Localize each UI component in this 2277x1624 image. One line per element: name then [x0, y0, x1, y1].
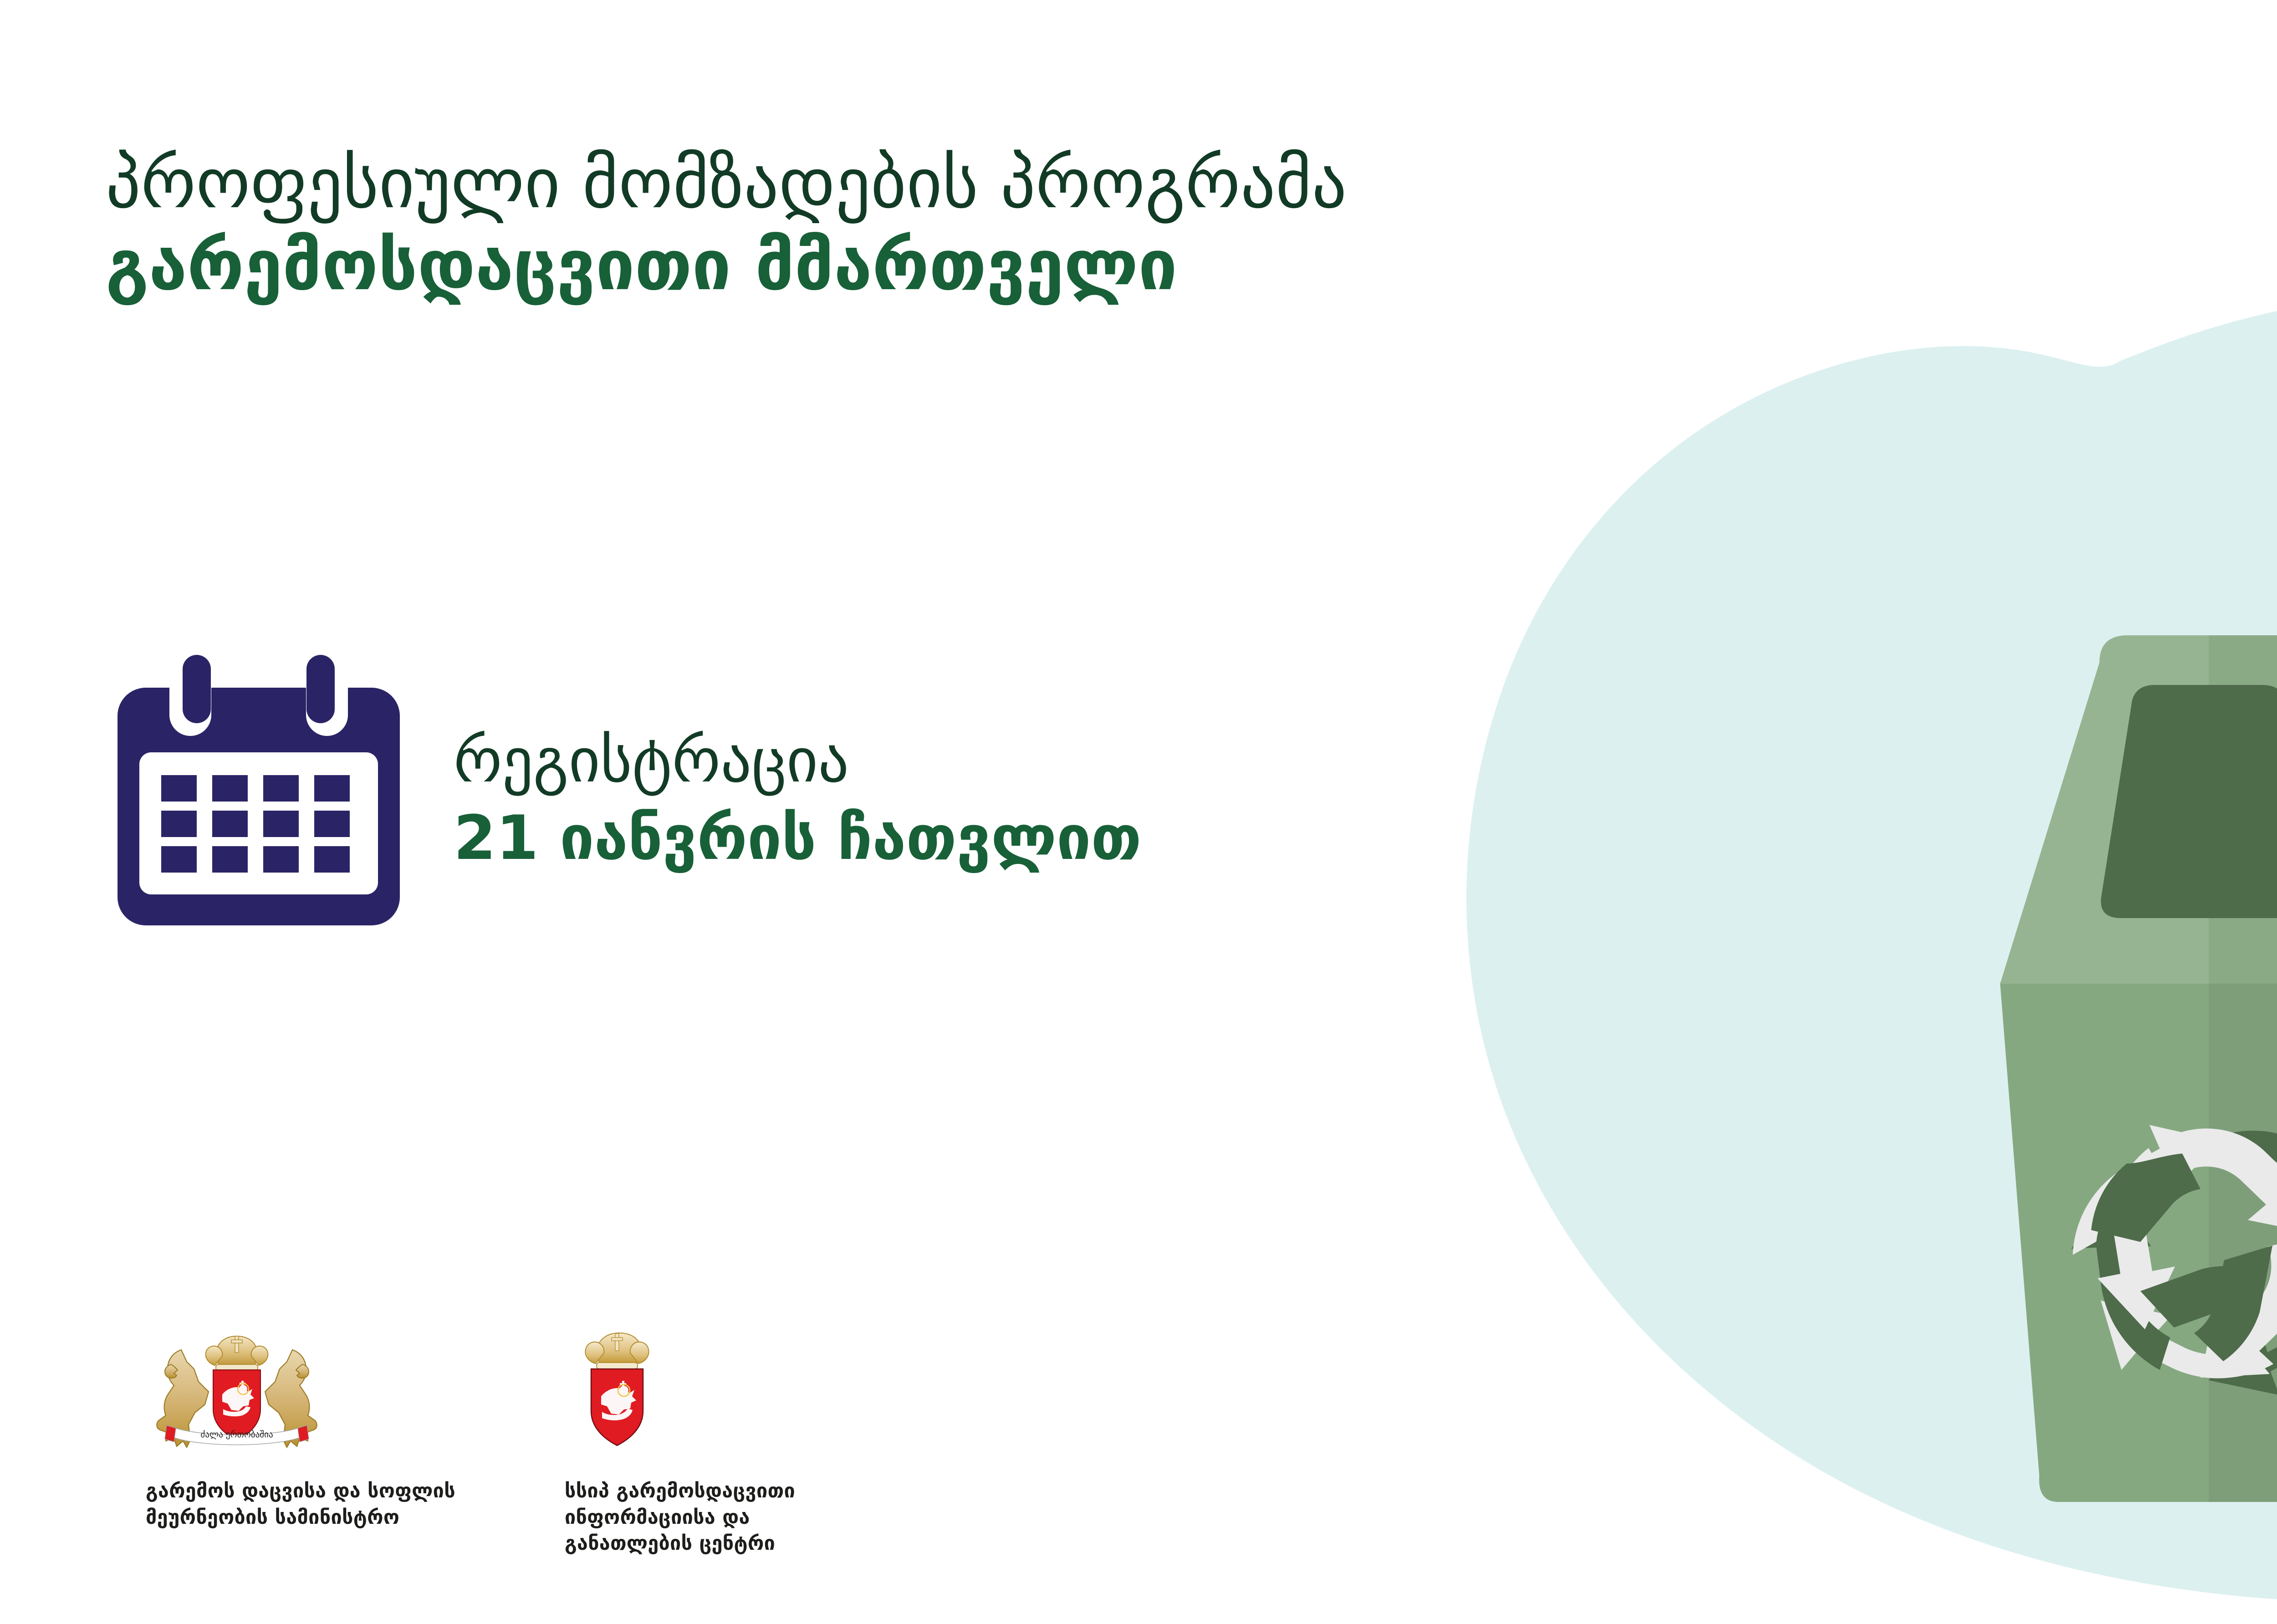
registration-block: რეგისტრაცია 21 იანვრის ჩათვლით [117, 647, 1142, 938]
centre-caption: სსიპ გარემოსდაცვითი ინფორმაციისა და განა… [565, 1478, 795, 1557]
registration-label: რეგისტრაცია [454, 725, 1142, 797]
centre-caption-line-1: სსიპ გარემოსდაცვითი [565, 1478, 795, 1505]
ministry-caption: გარემოს დაცვისა და სოფლის მეურნეობის სამ… [146, 1478, 455, 1531]
georgia-greater-coat-of-arms-icon: ძალა ერთობაშია [146, 1330, 455, 1466]
headline-line-1: პროფესიული მომზადების პროგრამა [106, 145, 2018, 222]
crown [206, 1336, 268, 1371]
bin-lid-right-cap [2209, 635, 2277, 663]
bin-body-right-foot [2209, 1476, 2277, 1502]
bin-body-left-foot [2039, 1476, 2209, 1502]
centre-caption-line-2: ინფორმაციისა და [565, 1505, 795, 1531]
footer-logos: ძალა ერთობაშია გარემოს დაცვისა და სოფლის… [146, 1330, 795, 1557]
ministry-caption-line-1: გარემოს დაცვისა და სოფლის [146, 1478, 455, 1505]
georgia-state-emblem-icon [565, 1330, 795, 1466]
coat-of-arms-motto: ძალა ერთობაშია [200, 1430, 273, 1440]
ministry-logo-block: ძალა ერთობაშია გარემოს დაცვისა და სოფლის… [146, 1330, 455, 1531]
registration-deadline: 21 იანვრის ჩათვლით [454, 802, 1142, 874]
centre-caption-line-3: განათლების ცენტრი [565, 1531, 795, 1557]
crown [585, 1333, 648, 1369]
poster-canvas: პროფესიული მომზადების პროგრამა გარემოსდა… [0, 0, 2277, 1624]
headline-line-2: გარემოსდაცვითი მმართველი [106, 227, 2018, 304]
registration-text: რეგისტრაცია 21 იანვრის ჩათვლით [454, 711, 1142, 874]
calendar-icon [117, 647, 400, 938]
ministry-caption-line-2: მეურნეობის სამინისტრო [146, 1505, 455, 1531]
bin-body-right [2209, 984, 2277, 1476]
centre-logo-block: სსიპ გარემოსდაცვითი ინფორმაციისა და განა… [565, 1330, 795, 1557]
recycling-bin-illustration [1448, 273, 2277, 1603]
headline-block: პროფესიული მომზადების პროგრამა გარემოსდა… [106, 145, 2018, 304]
bin-lid-left-cap [2099, 635, 2209, 663]
